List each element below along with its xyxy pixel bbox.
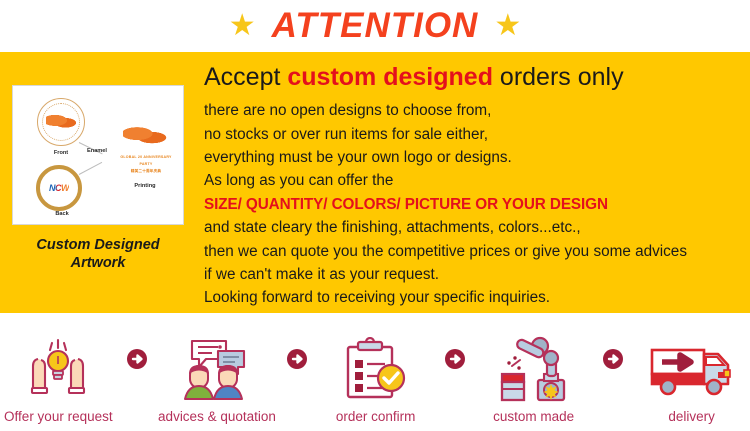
- people-speech-bubbles-icon: [174, 336, 260, 402]
- arrow-right-icon: [444, 348, 466, 370]
- printing-logo-caption: GLOBAL 20 ANNIVERSARY PARTY 精美二十周年庆典: [114, 154, 178, 174]
- process-step-custom-made: custom made: [475, 320, 592, 424]
- body-line: then we can quote you the competitive pr…: [204, 240, 742, 263]
- arrow-separator-3: [434, 348, 475, 396]
- body-line: everything must be your own logo or desi…: [204, 146, 742, 169]
- artwork-thumbnail: Front Enamel NCW Back GLOBAL 20 ANNIVERS…: [12, 85, 184, 225]
- body-text-block: there are no open designs to choose from…: [204, 99, 742, 310]
- process-step-advices-quotation: advices & quotation: [158, 320, 276, 424]
- headline-emphasis: custom designed: [287, 63, 493, 91]
- robot-arm-icon: [492, 336, 576, 402]
- body-line: As long as you can offer the: [204, 169, 742, 192]
- front-badge-icon: [37, 98, 85, 146]
- artwork-label-enamel: Enamel: [77, 148, 117, 154]
- process-step-label: delivery: [668, 409, 715, 424]
- body-line: there are no open designs to choose from…: [204, 99, 742, 122]
- process-step-label: order confirm: [336, 409, 416, 424]
- body-line: and state cleary the finishing, attachme…: [204, 216, 742, 239]
- headline-before: Accept: [204, 63, 287, 91]
- delivery-truck-icon: [646, 336, 738, 402]
- printing-caption-line1: GLOBAL 20 ANNIVERSARY PARTY: [114, 154, 178, 168]
- process-step-label: custom made: [493, 409, 574, 424]
- printing-caption-line2: 精美二十周年庆典: [114, 168, 178, 175]
- process-steps: Offer your request: [0, 313, 750, 431]
- process-step-label: Offer your request: [4, 409, 113, 424]
- connector-line-enamel-back: [79, 162, 102, 175]
- process-step-offer-request: Offer your request: [0, 320, 117, 424]
- front-logo-icon: [46, 114, 76, 130]
- arrow-separator-2: [276, 348, 317, 396]
- back-logo-text: NCW: [49, 183, 69, 193]
- artwork-column: Front Enamel NCW Back GLOBAL 20 ANNIVERS…: [0, 52, 196, 313]
- body-line-emphasis: SIZE/ QUANTITY/ COLORS/ PICTURE OR YOUR …: [204, 193, 742, 216]
- arrow-separator-4: [592, 348, 633, 396]
- attention-banner: ★ ATTENTION ★ Front Enamel NCW Back: [0, 0, 750, 431]
- process-step-delivery: delivery: [633, 320, 750, 424]
- star-left-icon: ★: [229, 11, 256, 41]
- artwork-caption: Custom Designed Artwork: [36, 236, 159, 272]
- hands-lightbulb-icon: [16, 336, 100, 402]
- headline: Accept custom designed orders only: [204, 62, 742, 93]
- banner-header: ★ ATTENTION ★: [0, 0, 750, 52]
- body-line: no stocks or over run items for sale eit…: [204, 123, 742, 146]
- back-badge-icon: NCW: [36, 165, 82, 211]
- body-line: if we can't make it as your request.: [204, 263, 742, 286]
- headline-after: orders only: [493, 63, 624, 91]
- artwork-label-front: Front: [43, 150, 79, 156]
- arrow-right-icon: [602, 348, 624, 370]
- artwork-caption-line2: Artwork: [36, 254, 159, 272]
- printing-logo-icon: [123, 126, 167, 146]
- arrow-separator-1: [117, 348, 158, 396]
- page-title: ATTENTION: [272, 6, 479, 46]
- arrow-right-icon: [286, 348, 308, 370]
- star-right-icon: ★: [494, 11, 521, 41]
- process-step-order-confirm: order confirm: [317, 320, 434, 424]
- process-step-label: advices & quotation: [158, 409, 276, 424]
- artwork-caption-line1: Custom Designed: [36, 236, 159, 254]
- body-line: Looking forward to receiving your specif…: [204, 286, 742, 309]
- arrow-right-icon: [126, 348, 148, 370]
- artwork-label-back: Back: [44, 211, 80, 217]
- copy-column: Accept custom designed orders only there…: [204, 52, 742, 313]
- clipboard-check-icon: [338, 336, 414, 402]
- artwork-label-printing: Printing: [125, 183, 165, 189]
- main-panel: Front Enamel NCW Back GLOBAL 20 ANNIVERS…: [0, 52, 750, 313]
